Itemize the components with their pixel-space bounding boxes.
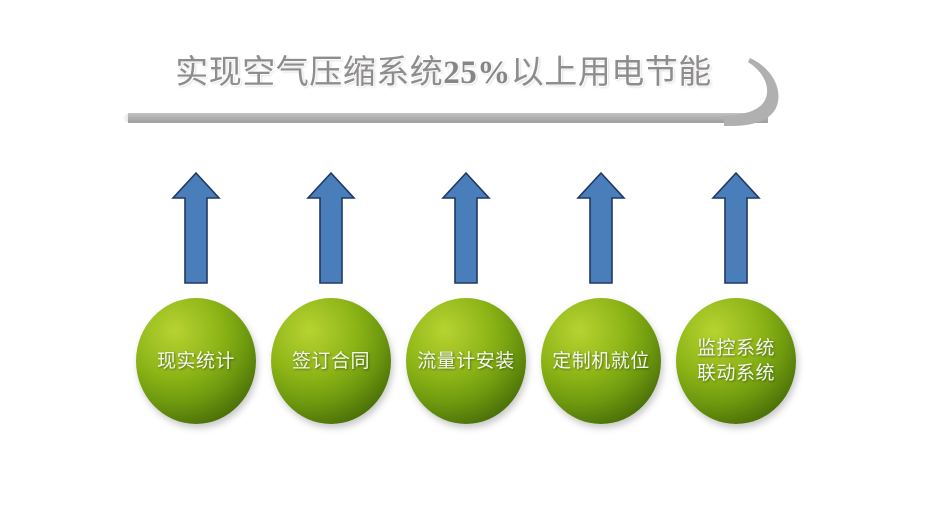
up-arrow-icon (440, 170, 492, 286)
step-circle[interactable]: 签订合同 (271, 298, 391, 424)
title-banner: 实现空气压缩系统25%以上用电节能 (0, 0, 945, 160)
step-label: 签订合同 (288, 349, 374, 374)
step-circle[interactable]: 现实统计 (136, 298, 256, 424)
step-label: 监控系统 联动系统 (693, 336, 779, 386)
process-step-2[interactable]: 签订合同 (268, 168, 394, 430)
up-arrow-icon (710, 170, 762, 286)
title-part-before: 实现空气压缩系统 (175, 55, 443, 91)
banner-bar (128, 113, 768, 123)
process-steps-row: 现实统计 签订合同 流量计安装 (0, 168, 945, 438)
step-circle[interactable]: 监控系统 联动系统 (676, 298, 796, 424)
up-arrow-icon (575, 170, 627, 286)
process-step-3[interactable]: 流量计安装 (403, 168, 529, 430)
page-title: 实现空气压缩系统25%以上用电节能 (0, 50, 945, 96)
process-step-4[interactable]: 定制机就位 (538, 168, 664, 430)
slide-canvas: 实现空气压缩系统25%以上用电节能 现实统计 签订合同 (0, 0, 945, 529)
step-circle[interactable]: 定制机就位 (541, 298, 661, 424)
title-highlight-percent: 25% (443, 55, 511, 91)
up-arrow-icon (305, 170, 357, 286)
process-step-1[interactable]: 现实统计 (133, 168, 259, 430)
step-circle[interactable]: 流量计安装 (406, 298, 526, 424)
step-label: 定制机就位 (548, 349, 654, 374)
title-part-after: 以上用电节能 (511, 55, 712, 91)
step-label: 现实统计 (153, 349, 239, 374)
process-step-5[interactable]: 监控系统 联动系统 (673, 168, 799, 430)
up-arrow-icon (170, 170, 222, 286)
step-label: 流量计安装 (413, 349, 519, 374)
